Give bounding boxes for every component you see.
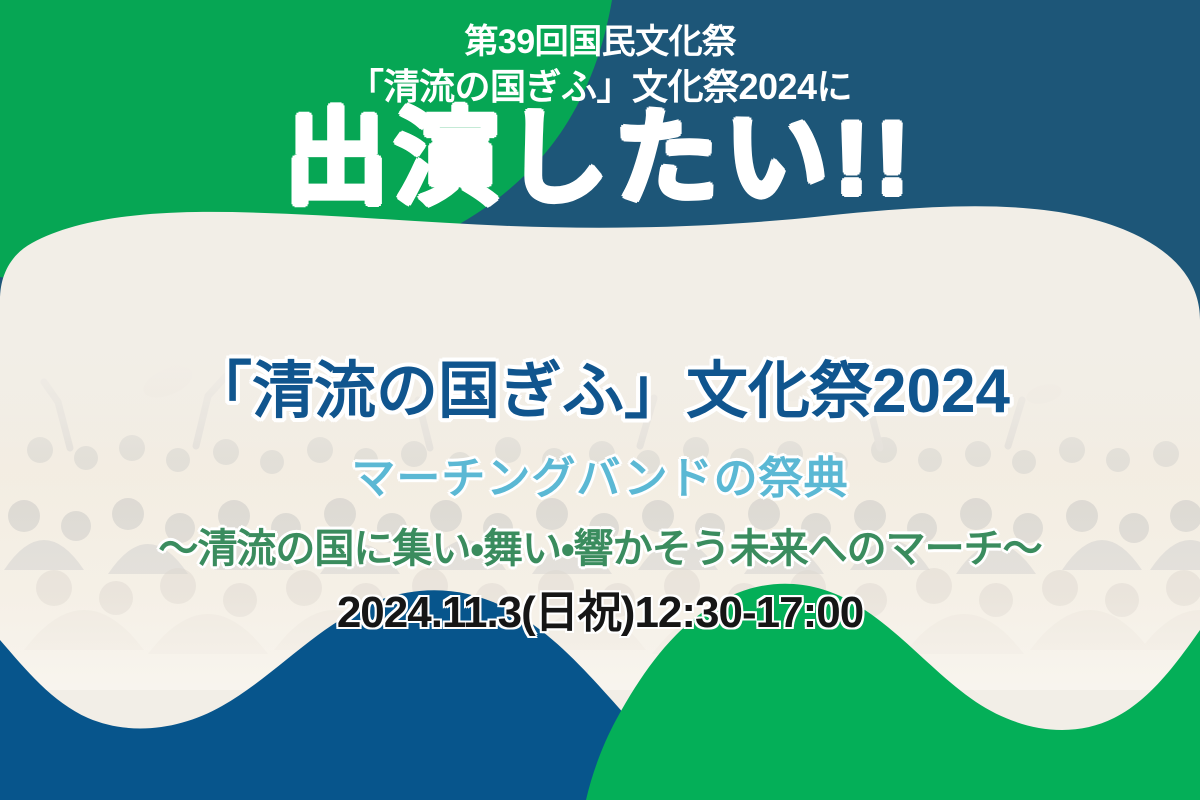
festival-edition-line: 第39回国民文化祭 xyxy=(0,22,1200,62)
event-sub-title: マーチングバンドの祭典 xyxy=(0,452,1200,506)
poster-canvas: 第39回国民文化祭 「清流の国ぎふ」文化祭2024に 出演したい!! 「清流の国… xyxy=(0,0,1200,800)
event-datetime: 2024.11.3(日祝)12:30-17:00 xyxy=(0,585,1200,641)
headline-call-to-action: 出演したい!! xyxy=(0,103,1200,215)
event-catchcopy: 〜清流の国に集い・舞い・響かそう未来へのマーチ〜 xyxy=(0,524,1200,574)
event-main-title: 「清流の国ぎふ」文化祭2024 xyxy=(0,355,1200,429)
